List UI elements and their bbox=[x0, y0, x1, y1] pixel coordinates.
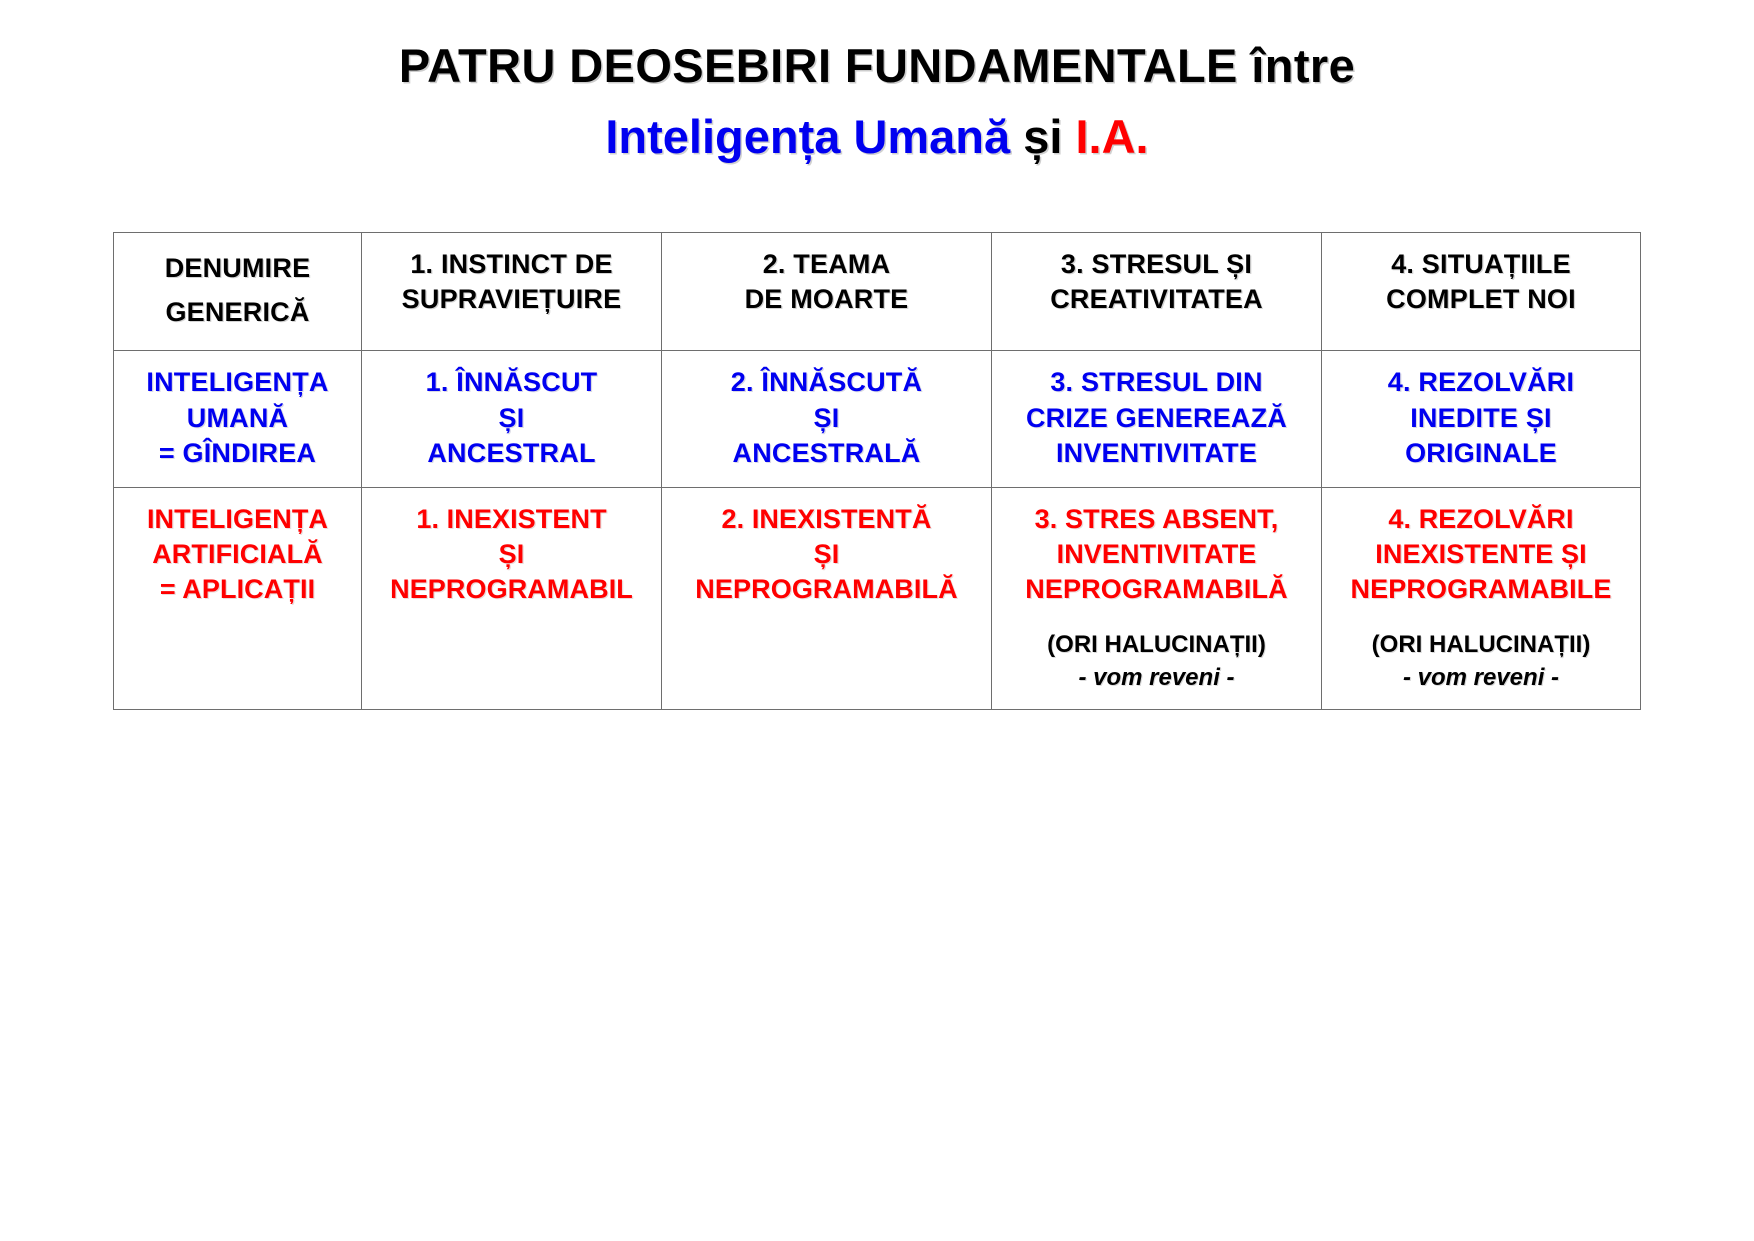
ai-cell-instinct: 1. INEXISTENT ȘI NEPROGRAMABIL bbox=[362, 487, 662, 710]
cell-line: ORIGINALE bbox=[1330, 436, 1632, 471]
cell-line: INEDITE ȘI bbox=[1330, 401, 1632, 436]
cell-line: = APLICAȚII bbox=[122, 572, 353, 607]
human-cell-label: INTELIGENȚA UMANĂ = GÎNDIREA bbox=[114, 351, 362, 487]
human-cell-instinct: 1. ÎNNĂSCUT ȘI ANCESTRAL bbox=[362, 351, 662, 487]
header-cell-line: DENUMIRE bbox=[122, 247, 353, 291]
header-cell-line: 4. SITUAȚIILE bbox=[1330, 247, 1632, 282]
cell-line: ȘI bbox=[370, 537, 653, 572]
human-cell-teama: 2. ÎNNĂSCUTĂ ȘI ANCESTRALĂ bbox=[662, 351, 992, 487]
cell-line: = GÎNDIREA bbox=[122, 436, 353, 471]
cell-line: 1. INEXISTENT bbox=[370, 502, 653, 537]
table-header-row: DENUMIRE GENERICĂ 1. INSTINCT DE SUPRAVI… bbox=[114, 233, 1641, 351]
ai-cell-stres: 3. STRES ABSENT, INVENTIVITATE NEPROGRAM… bbox=[992, 487, 1322, 710]
ai-note-vom-reveni: - vom reveni - bbox=[1330, 662, 1632, 693]
cell-line: 2. ÎNNĂSCUTĂ bbox=[670, 365, 983, 400]
cell-line: NEPROGRAMABILE bbox=[1330, 572, 1632, 607]
cell-spacer bbox=[122, 607, 353, 681]
cell-line: NEPROGRAMABIL bbox=[370, 572, 653, 607]
document-title-block: PATRU DEOSEBIRI FUNDAMENTALE între Intel… bbox=[0, 38, 1754, 165]
header-cell-line: GENERICĂ bbox=[122, 291, 353, 335]
comparison-table: DENUMIRE GENERICĂ 1. INSTINCT DE SUPRAVI… bbox=[113, 232, 1641, 710]
cell-line: ANCESTRALĂ bbox=[670, 436, 983, 471]
header-cell-line: COMPLET NOI bbox=[1330, 282, 1632, 317]
ai-note-vom-reveni: - vom reveni - bbox=[1000, 662, 1313, 693]
header-cell-line: 3. STRESUL ȘI bbox=[1000, 247, 1313, 282]
cell-line: INEXISTENTE ȘI bbox=[1330, 537, 1632, 572]
header-cell-line: CREATIVITATEA bbox=[1000, 282, 1313, 317]
header-cell-denumire-generica: DENUMIRE GENERICĂ bbox=[114, 233, 362, 351]
document-page: PATRU DEOSEBIRI FUNDAMENTALE între Intel… bbox=[0, 0, 1754, 1241]
cell-line: NEPROGRAMABILĂ bbox=[1000, 572, 1313, 607]
title-line-1: PATRU DEOSEBIRI FUNDAMENTALE între bbox=[0, 38, 1754, 93]
cell-line: INTELIGENȚA bbox=[122, 365, 353, 400]
title-human-intelligence: Inteligența Umană bbox=[605, 110, 1010, 163]
cell-line: INVENTIVITATE bbox=[1000, 537, 1313, 572]
ai-note-hallucinations: (ORI HALUCINAȚII) bbox=[1330, 629, 1632, 660]
cell-line: ȘI bbox=[370, 401, 653, 436]
cell-line: NEPROGRAMABILĂ bbox=[670, 572, 983, 607]
cell-line: ȘI bbox=[670, 537, 983, 572]
header-cell-stres-creativitate: 3. STRESUL ȘI CREATIVITATEA bbox=[992, 233, 1322, 351]
cell-line: 4. REZOLVĂRI bbox=[1330, 365, 1632, 400]
table-row-human-intelligence: INTELIGENȚA UMANĂ = GÎNDIREA 1. ÎNNĂSCUT… bbox=[114, 351, 1641, 487]
header-cell-situatii-noi: 4. SITUAȚIILE COMPLET NOI bbox=[1322, 233, 1641, 351]
cell-line: CRIZE GENEREAZĂ bbox=[1000, 401, 1313, 436]
cell-line: INVENTIVITATE bbox=[1000, 436, 1313, 471]
cell-line: 3. STRESUL DIN bbox=[1000, 365, 1313, 400]
header-cell-line: DE MOARTE bbox=[670, 282, 983, 317]
title-line-2: Inteligența Umană și I.A. bbox=[0, 109, 1754, 164]
human-cell-situatii: 4. REZOLVĂRI INEDITE ȘI ORIGINALE bbox=[1322, 351, 1641, 487]
comparison-table-wrapper: DENUMIRE GENERICĂ 1. INSTINCT DE SUPRAVI… bbox=[113, 232, 1640, 710]
cell-line: UMANĂ bbox=[122, 401, 353, 436]
ai-note-hallucinations: (ORI HALUCINAȚII) bbox=[1000, 629, 1313, 660]
ai-cell-teama: 2. INEXISTENTĂ ȘI NEPROGRAMABILĂ bbox=[662, 487, 992, 710]
cell-line: 1. ÎNNĂSCUT bbox=[370, 365, 653, 400]
ai-cell-label: INTELIGENȚA ARTIFICIALĂ = APLICAȚII bbox=[114, 487, 362, 710]
table-row-artificial-intelligence: INTELIGENȚA ARTIFICIALĂ = APLICAȚII 1. I… bbox=[114, 487, 1641, 710]
human-cell-stres: 3. STRESUL DIN CRIZE GENEREAZĂ INVENTIVI… bbox=[992, 351, 1322, 487]
cell-line: 2. INEXISTENTĂ bbox=[670, 502, 983, 537]
cell-line: 3. STRES ABSENT, bbox=[1000, 502, 1313, 537]
title-conjunction: și bbox=[1010, 110, 1075, 163]
header-cell-teama-de-moarte: 2. TEAMA DE MOARTE bbox=[662, 233, 992, 351]
cell-spacer bbox=[370, 607, 653, 681]
ai-cell-situatii: 4. REZOLVĂRI INEXISTENTE ȘI NEPROGRAMABI… bbox=[1322, 487, 1641, 710]
cell-line: ARTIFICIALĂ bbox=[122, 537, 353, 572]
cell-line: ANCESTRAL bbox=[370, 436, 653, 471]
header-cell-line: SUPRAVIEȚUIRE bbox=[370, 282, 653, 317]
header-cell-line: 2. TEAMA bbox=[670, 247, 983, 282]
title-ai: I.A. bbox=[1076, 110, 1149, 163]
cell-line: INTELIGENȚA bbox=[122, 502, 353, 537]
cell-line: ȘI bbox=[670, 401, 983, 436]
header-cell-instinct-supravietuire: 1. INSTINCT DE SUPRAVIEȚUIRE bbox=[362, 233, 662, 351]
cell-line: 4. REZOLVĂRI bbox=[1330, 502, 1632, 537]
cell-spacer bbox=[670, 607, 983, 681]
header-cell-line: 1. INSTINCT DE bbox=[370, 247, 653, 282]
